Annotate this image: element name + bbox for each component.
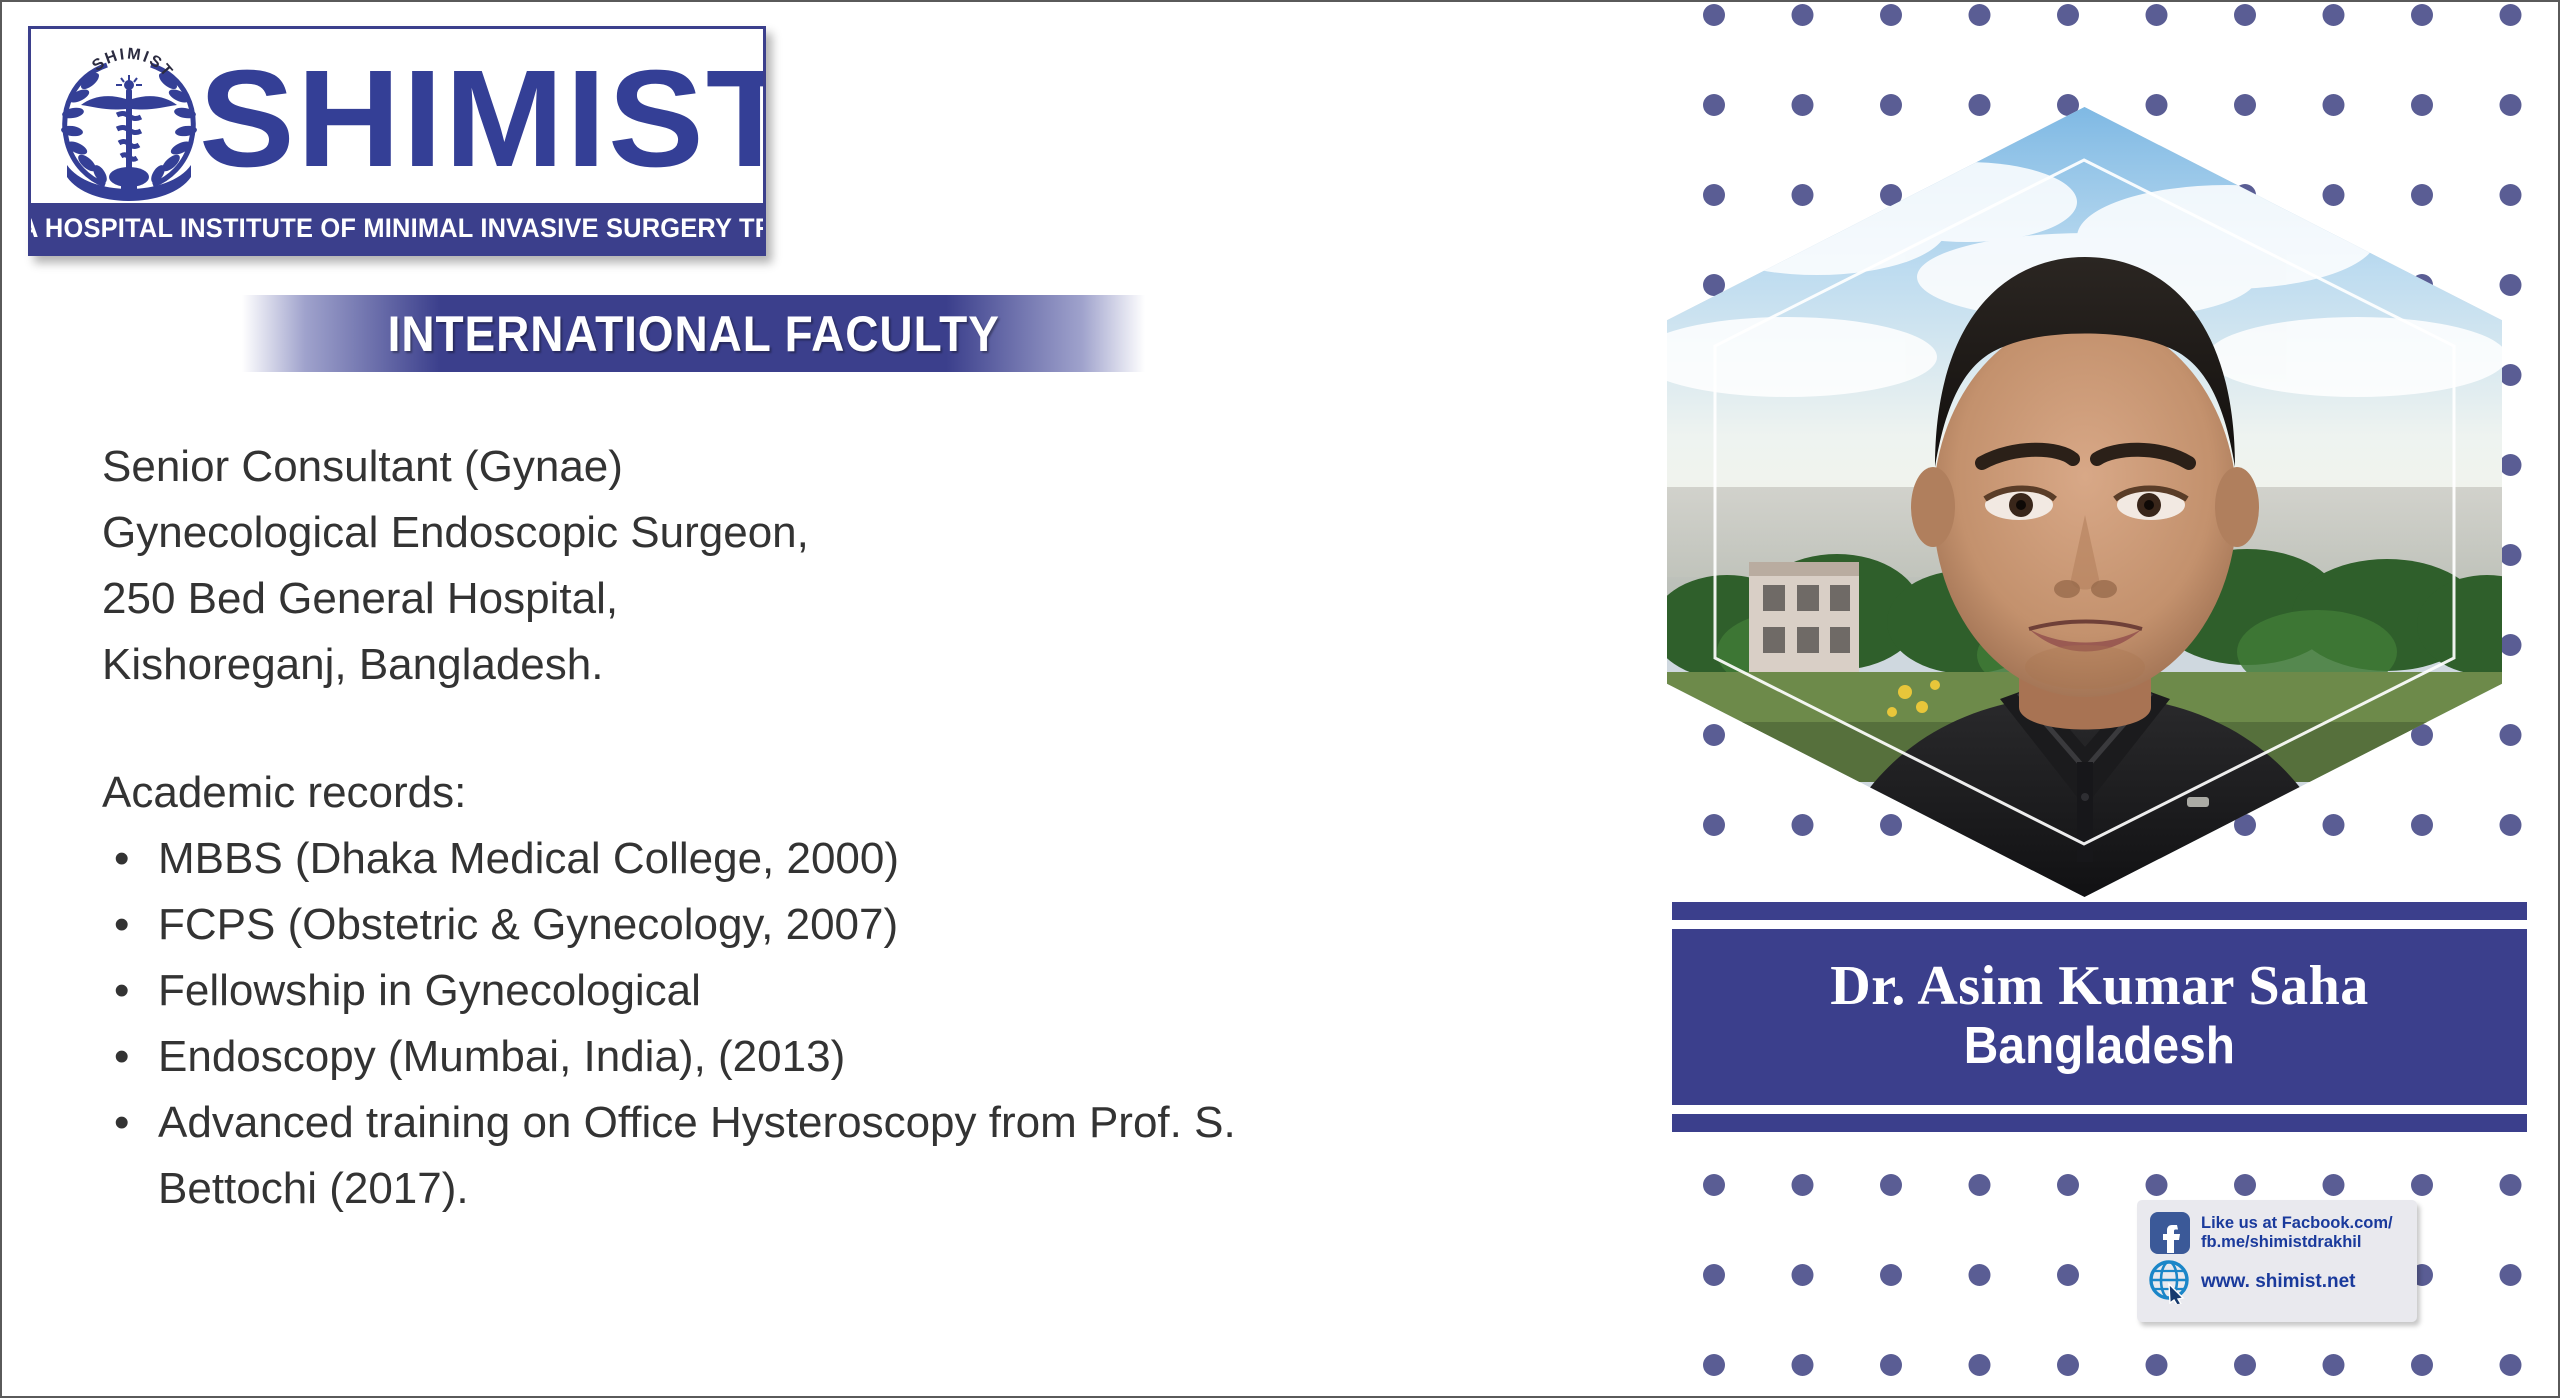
record-text-wrap: Bettochi (2017). bbox=[158, 1156, 1562, 1222]
facebook-line-2: fb.me/shimistdrakhil bbox=[2201, 1233, 2361, 1251]
nameplate-gap-bottom bbox=[1672, 1105, 2527, 1114]
profile-line-1: Gynecological Endoscopic Surgeon, bbox=[102, 500, 1562, 566]
slide-canvas: SHIMIST bbox=[0, 0, 2560, 1398]
bullet-icon: • bbox=[114, 1024, 129, 1090]
bullet-icon: • bbox=[114, 1090, 129, 1156]
faculty-details: Senior Consultant (Gynae) Gynecological … bbox=[102, 434, 1562, 1222]
academic-records-heading: Academic records: bbox=[102, 760, 1562, 826]
bullet-icon: • bbox=[114, 892, 129, 958]
logo-subtitle-bar: SAXENA HOSPITAL INSTITUTE OF MINIMAL INV… bbox=[31, 203, 763, 253]
facebook-icon bbox=[2147, 1210, 2193, 1256]
banner-title: INTERNATIONAL FACULTY bbox=[387, 305, 999, 363]
text-spacer bbox=[102, 698, 1562, 760]
facebook-row[interactable]: Like us at Facbook.com/ fb.me/shimistdra… bbox=[2147, 1210, 2417, 1256]
profile-line-0: Senior Consultant (Gynae) bbox=[102, 434, 1562, 500]
profile-line-2: 250 Bed General Hospital, bbox=[102, 566, 1562, 632]
list-item: • FCPS (Obstetric & Gynecology, 2007) bbox=[102, 892, 1562, 958]
facebook-line-1: Like us at Facbook.com/ bbox=[2201, 1214, 2393, 1232]
list-item: • Fellowship in Gynecological bbox=[102, 958, 1562, 1024]
website-text: www. shimist.net bbox=[2201, 1272, 2356, 1291]
record-text: FCPS (Obstetric & Gynecology, 2007) bbox=[158, 900, 898, 949]
nameplate-bottom-bar bbox=[1672, 1114, 2527, 1132]
nameplate-top-bar bbox=[1672, 902, 2527, 920]
faculty-name: Dr. Asim Kumar Saha bbox=[1672, 955, 2527, 1017]
list-item: • Endoscopy (Mumbai, India), (2013) bbox=[102, 1024, 1562, 1090]
svg-text:SHIMIST: SHIMIST bbox=[89, 45, 176, 81]
list-item: • Advanced training on Office Hysterosco… bbox=[102, 1090, 1562, 1222]
record-text: Fellowship in Gynecological bbox=[158, 966, 701, 1015]
nameplate: Dr. Asim Kumar Saha Bangladesh bbox=[1672, 902, 2527, 1132]
bullet-icon: • bbox=[114, 826, 129, 892]
record-text: Advanced training on Office Hysteroscopy… bbox=[158, 1098, 1236, 1147]
globe-cursor-icon bbox=[2147, 1258, 2193, 1304]
nameplate-body: Dr. Asim Kumar Saha Bangladesh bbox=[1672, 929, 2527, 1105]
website-row[interactable]: www. shimist.net bbox=[2147, 1258, 2417, 1304]
right-panel: Dr. Asim Kumar Saha Bangladesh Like us a… bbox=[1667, 2, 2558, 1396]
logo-subtitle-text: SAXENA HOSPITAL INSTITUTE OF MINIMAL INV… bbox=[28, 213, 766, 244]
nameplate-gap-top bbox=[1672, 920, 2527, 929]
academic-records-list: • MBBS (Dhaka Medical College, 2000) • F… bbox=[102, 826, 1562, 1222]
international-faculty-banner: INTERNATIONAL FACULTY bbox=[242, 295, 1145, 372]
faculty-country: Bangladesh bbox=[1964, 1017, 2235, 1075]
facebook-text: Like us at Facbook.com/ fb.me/shimistdra… bbox=[2201, 1214, 2393, 1252]
contact-box: Like us at Facbook.com/ fb.me/shimistdra… bbox=[2137, 1200, 2417, 1322]
logo-wordmark: SHIMIST bbox=[199, 35, 766, 203]
list-item: • MBBS (Dhaka Medical College, 2000) bbox=[102, 826, 1562, 892]
hexagon-outline bbox=[1712, 157, 2457, 847]
profile-line-3: Kishoreganj, Bangladesh. bbox=[102, 632, 1562, 698]
bullet-icon: • bbox=[114, 958, 129, 1024]
record-text: MBBS (Dhaka Medical College, 2000) bbox=[158, 834, 899, 883]
shimist-logo: SHIMIST bbox=[28, 26, 766, 256]
caduceus-wreath-emblem: SHIMIST bbox=[49, 37, 209, 202]
logo-top-row: SHIMIST bbox=[31, 29, 763, 207]
record-text: Endoscopy (Mumbai, India), (2013) bbox=[158, 1032, 845, 1081]
